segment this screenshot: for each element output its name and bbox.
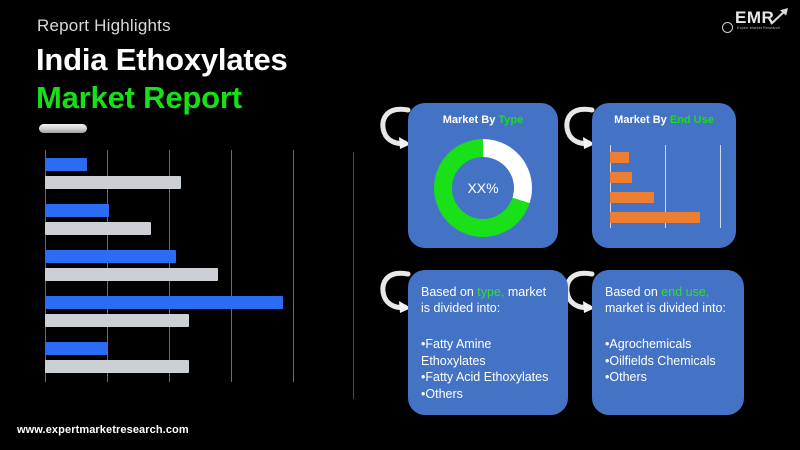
arrow-to-enduse-card-icon	[562, 104, 596, 152]
emr-ring-icon	[722, 22, 733, 33]
bar-row	[45, 314, 189, 327]
arrow-to-type-card-icon	[378, 104, 412, 152]
bar-row	[45, 360, 189, 373]
mini-bar	[610, 192, 654, 203]
list-item: •Others	[421, 386, 558, 403]
bar-row	[45, 342, 107, 355]
card-segmentation-by-end-use[interactable]: Based on end use, market is divided into…	[592, 270, 744, 415]
gridline-100	[293, 150, 294, 382]
end-use-bar-chart	[610, 145, 722, 233]
card-market-by-end-use[interactable]: Market By End Use	[592, 103, 736, 248]
bar-row	[45, 204, 109, 217]
mini-bar	[610, 212, 700, 223]
list-item: •Agrochemicals	[605, 336, 734, 353]
list-item: •Fatty Acid Ethoxylates	[421, 369, 558, 386]
end-use-bullet-list: •Agrochemicals •Oilfields Chemicals •Oth…	[605, 336, 734, 386]
mini-bar	[610, 152, 629, 163]
mini-bar	[610, 172, 632, 183]
type-bullet-list: •Fatty Amine Ethoxylates •Fatty Acid Eth…	[421, 336, 558, 402]
bar-row	[45, 296, 283, 309]
emr-arrow-icon	[769, 6, 791, 26]
card-title-market-by-type: Market By Type	[408, 114, 558, 126]
bar-row	[45, 158, 87, 171]
highlights-bar-chart	[45, 150, 300, 382]
mini-gridline-100	[720, 145, 721, 228]
emr-logo-tagline: Expert Market Research	[737, 26, 780, 30]
page-kicker: Report Highlights	[37, 16, 171, 36]
list-item: •Oilfields Chemicals	[605, 353, 734, 370]
card-segmentation-by-type[interactable]: Based on type, market is divided into: •…	[408, 270, 568, 415]
card-title-market-by-end-use: Market By End Use	[592, 114, 736, 126]
list-item: •Fatty Amine Ethoxylates	[421, 336, 558, 369]
bar-row	[45, 176, 181, 189]
donut-center: XX%	[452, 157, 514, 219]
emr-logo: EMR Expert Market Research	[718, 6, 792, 40]
page-title-accent: Market Report	[36, 80, 242, 116]
list-item: •Others	[605, 369, 734, 386]
gridline-75	[231, 150, 232, 382]
footer-url: www.expertmarketresearch.com	[17, 424, 189, 436]
panel-divider	[353, 152, 354, 399]
end-use-segmentation-body: Based on end use, market is divided into…	[605, 284, 734, 386]
donut-chart: XX%	[434, 139, 532, 237]
donut-center-label: XX%	[467, 180, 498, 196]
bar-row	[45, 250, 176, 263]
page-title: India Ethoxylates	[36, 42, 288, 78]
type-intro: Based on type, market is divided into:	[421, 284, 558, 316]
bar-row	[45, 268, 218, 281]
card-market-by-type[interactable]: Market By Type XX%	[408, 103, 558, 248]
bar-row	[45, 222, 151, 235]
title-underline-pill	[39, 124, 87, 133]
arrow-to-type-text-icon	[378, 268, 412, 316]
type-segmentation-body: Based on type, market is divided into: •…	[421, 284, 558, 402]
end-use-intro: Based on end use, market is divided into…	[605, 284, 734, 316]
